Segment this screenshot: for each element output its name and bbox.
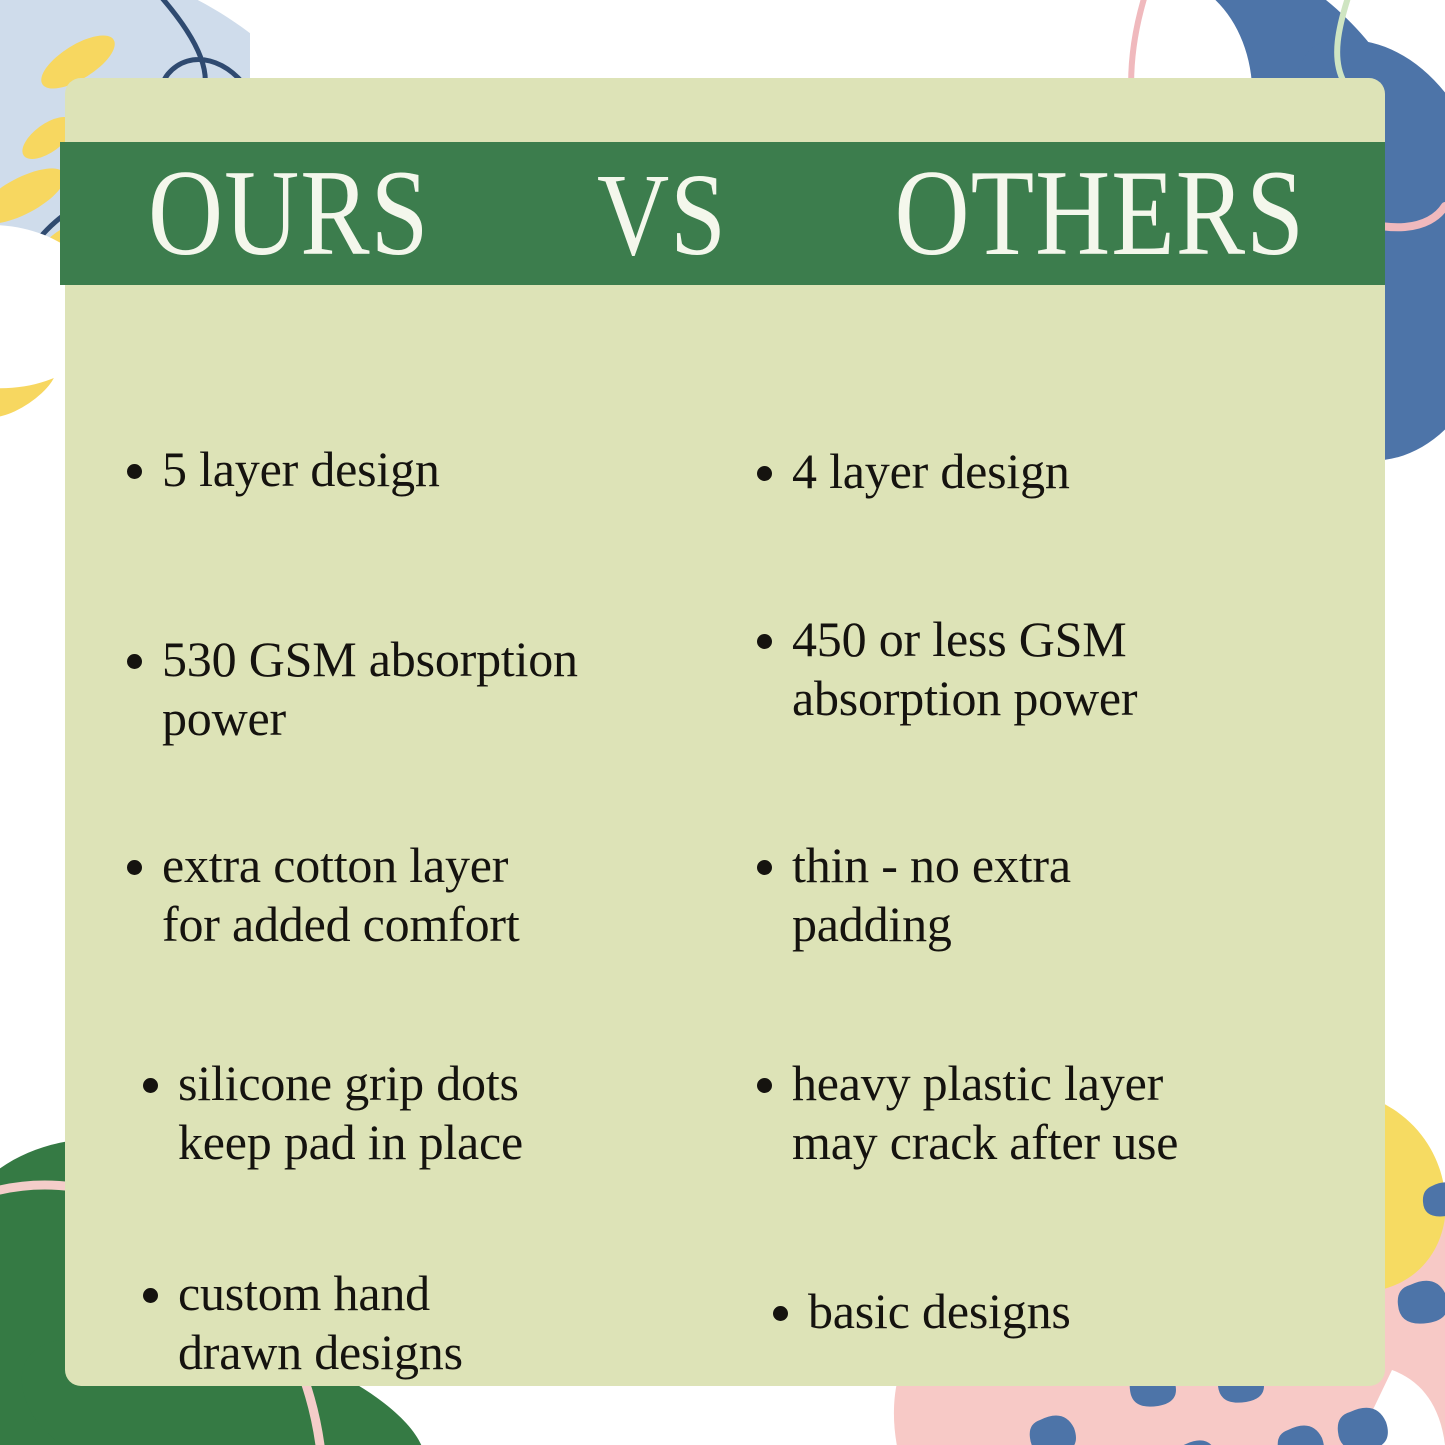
bullet-dot-icon <box>127 654 142 669</box>
bullet-dot-icon <box>143 1078 158 1093</box>
list-item-label: 530 GSM absorption power <box>162 630 578 748</box>
list-item-label: silicone grip dots keep pad in place <box>178 1054 523 1172</box>
list-item: custom hand drawn designs <box>143 1264 463 1382</box>
list-item: heavy plastic layer may crack after use <box>757 1054 1178 1172</box>
column-others: 4 layer design 450 or less GSM absorptio… <box>725 314 1385 1374</box>
list-item-label: custom hand drawn designs <box>178 1264 463 1382</box>
column-ours: 5 layer design 530 GSM absorption power … <box>65 314 725 1374</box>
list-item: 4 layer design <box>757 442 1070 501</box>
bullet-dot-icon <box>127 464 142 479</box>
title-row: OURS VS OTHERS <box>60 162 1385 266</box>
title-others: OTHERS <box>895 152 1305 275</box>
poster-canvas: OURS VS OTHERS 5 layer design 530 GSM ab… <box>0 0 1445 1445</box>
bullet-dot-icon <box>757 860 772 875</box>
list-item: 530 GSM absorption power <box>127 630 578 748</box>
bullet-dot-icon <box>757 466 772 481</box>
bullet-dot-icon <box>143 1288 158 1303</box>
list-item-label: basic designs <box>808 1282 1071 1341</box>
list-item-label: heavy plastic layer may crack after use <box>792 1054 1178 1172</box>
bullet-dot-icon <box>773 1306 788 1321</box>
list-item-label: thin - no extra padding <box>792 836 1071 954</box>
list-item-label: 4 layer design <box>792 442 1070 501</box>
list-item-label: 450 or less GSM absorption power <box>792 610 1137 728</box>
list-item-label: 5 layer design <box>162 440 440 499</box>
list-item: basic designs <box>773 1282 1071 1341</box>
bullet-dot-icon <box>757 634 772 649</box>
list-item: thin - no extra padding <box>757 836 1071 954</box>
list-item: silicone grip dots keep pad in place <box>143 1054 523 1172</box>
title-ours: OURS <box>148 152 429 275</box>
comparison-columns: 5 layer design 530 GSM absorption power … <box>65 314 1385 1374</box>
list-item: extra cotton layer for added comfort <box>127 836 520 954</box>
title-vs: VS <box>597 156 727 274</box>
list-item: 450 or less GSM absorption power <box>757 610 1137 728</box>
list-item-label: extra cotton layer for added comfort <box>162 836 520 954</box>
comparison-card: OURS VS OTHERS 5 layer design 530 GSM ab… <box>65 78 1385 1386</box>
title-banner: OURS VS OTHERS <box>60 142 1385 285</box>
bullet-dot-icon <box>127 860 142 875</box>
list-item: 5 layer design <box>127 440 440 499</box>
bullet-dot-icon <box>757 1078 772 1093</box>
